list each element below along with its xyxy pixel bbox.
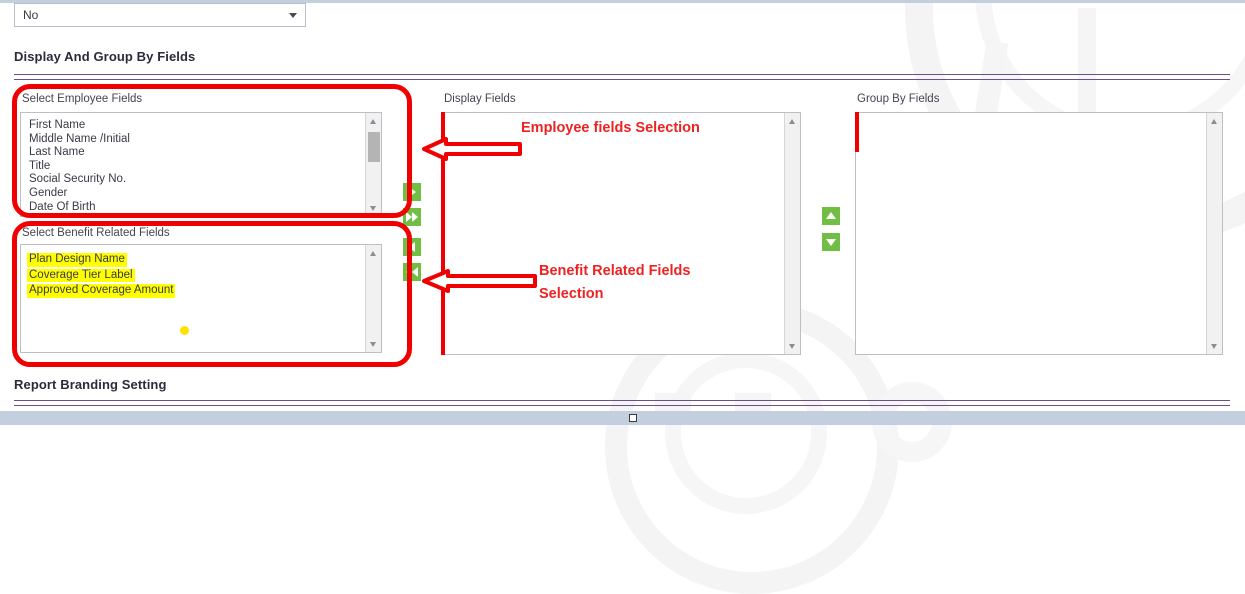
list-item[interactable]: Date Of Birth <box>29 201 365 215</box>
list-item[interactable]: Approved Coverage Amount <box>27 284 175 298</box>
status-bar <box>0 411 1245 425</box>
scroll-down-icon[interactable] <box>366 337 381 352</box>
employee-fields-items[interactable]: First Name Middle Name /Initial Last Nam… <box>21 113 365 216</box>
scrollbar-thumb[interactable] <box>368 132 380 162</box>
group-by-fields-scrollbar[interactable] <box>1206 113 1222 354</box>
cursor-highlight-dot <box>180 326 189 335</box>
benefit-fields-listbox[interactable]: Plan Design Name Coverage Tier Label App… <box>20 244 382 353</box>
list-item[interactable]: Middle Name /Initial <box>29 133 365 147</box>
yes-no-select[interactable]: No <box>14 3 306 27</box>
scroll-down-icon[interactable] <box>785 339 800 354</box>
group-by-fields-listbox[interactable] <box>855 112 1223 355</box>
employee-fields-scrollbar[interactable] <box>365 113 381 216</box>
list-item[interactable]: Plan Design Name <box>27 253 127 267</box>
label-select-employee-fields: Select Employee Fields <box>22 93 142 105</box>
list-item[interactable]: Title <box>29 160 365 174</box>
benefit-fields-items[interactable]: Plan Design Name Coverage Tier Label App… <box>21 245 365 352</box>
scroll-up-icon[interactable] <box>366 245 381 260</box>
label-display-fields: Display Fields <box>444 93 516 105</box>
list-item[interactable]: Gender <box>29 187 365 201</box>
employee-fields-listbox[interactable]: First Name Middle Name /Initial Last Nam… <box>20 112 382 217</box>
benefit-fields-scrollbar[interactable] <box>365 245 381 352</box>
label-group-by-fields: Group By Fields <box>857 93 939 105</box>
list-item[interactable]: First Name <box>29 119 365 133</box>
list-item[interactable]: Last Name <box>29 146 365 160</box>
move-all-right-button[interactable] <box>403 208 421 226</box>
section-title-display-group: Display And Group By Fields <box>14 49 195 64</box>
scroll-up-icon[interactable] <box>366 113 381 128</box>
move-all-left-button[interactable] <box>403 263 421 281</box>
move-left-button[interactable] <box>403 238 421 256</box>
group-by-fields-items[interactable] <box>856 113 1206 354</box>
display-fields-listbox[interactable] <box>443 112 801 355</box>
list-item[interactable]: Social Security No. <box>29 173 365 187</box>
move-up-button[interactable] <box>822 207 840 225</box>
display-fields-items[interactable] <box>444 113 784 354</box>
display-fields-scrollbar[interactable] <box>784 113 800 354</box>
annotation-line-display-fields <box>441 112 445 355</box>
yes-no-select-value: No <box>23 8 38 22</box>
scroll-down-icon[interactable] <box>1207 339 1222 354</box>
scroll-up-icon[interactable] <box>1207 113 1222 128</box>
annotation-text-benefit-line1: Benefit Related Fields <box>539 261 690 282</box>
list-item[interactable]: Coverage Tier Label <box>27 269 135 283</box>
chevron-down-icon <box>289 13 297 18</box>
scroll-down-icon[interactable] <box>366 201 381 216</box>
move-right-button[interactable] <box>403 183 421 201</box>
section-title-report-branding: Report Branding Setting <box>14 377 167 392</box>
annotation-text-benefit-line2: Selection <box>539 284 603 305</box>
section-rule-display-group <box>14 74 1230 80</box>
label-select-benefit-fields: Select Benefit Related Fields <box>22 227 170 239</box>
annotation-line-group-by-fields <box>855 112 859 152</box>
annotation-text-employee: Employee fields Selection <box>521 118 700 139</box>
scroll-up-icon[interactable] <box>785 113 800 128</box>
list-item-partial[interactable]: Street Address 1 <box>29 214 365 217</box>
status-bar-grip[interactable] <box>629 414 637 422</box>
watermark-ring-center-inner <box>665 352 827 514</box>
section-rule-report-branding <box>14 400 1230 406</box>
move-down-button[interactable] <box>822 233 840 251</box>
